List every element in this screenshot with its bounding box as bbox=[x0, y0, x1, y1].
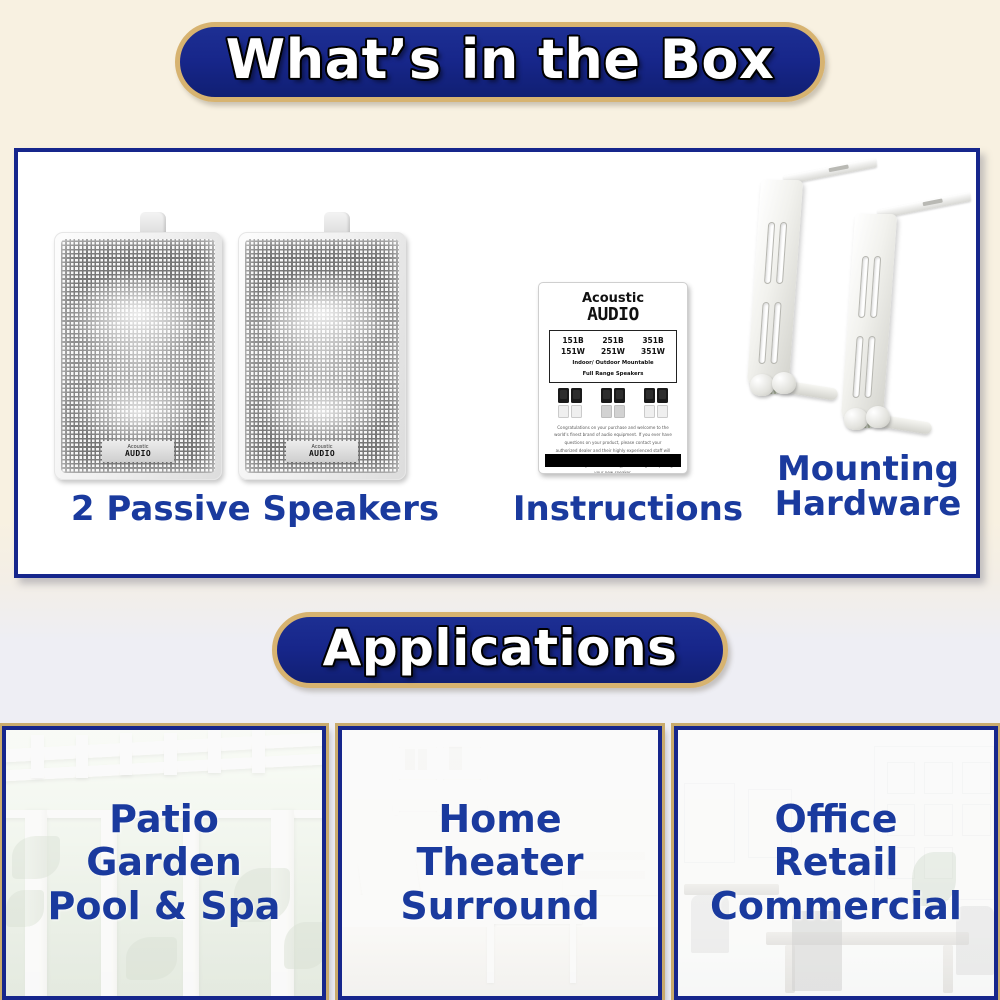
caption-instructions: Instructions bbox=[498, 492, 758, 527]
title-banner-label: What’s in the Box bbox=[226, 33, 775, 87]
sheet-footer-bar bbox=[545, 454, 681, 467]
thumbnail-pair bbox=[644, 388, 668, 418]
thumbnail-column bbox=[601, 388, 612, 418]
application-card-office-retail: Office Retail Commercial bbox=[674, 726, 998, 1000]
bracket-knob-group bbox=[750, 372, 824, 406]
speaker-grille-mesh bbox=[61, 239, 215, 473]
speaker-body: Acoustic AUDIO bbox=[54, 232, 222, 480]
speaker-brand-badge: Acoustic AUDIO bbox=[102, 441, 174, 462]
application-label-home-theater: Home Theater Surround bbox=[342, 730, 658, 996]
speaker-thumb-dark-icon bbox=[558, 388, 569, 403]
thumbnail-column bbox=[571, 388, 582, 418]
title-banner: What’s in the Box bbox=[175, 22, 826, 102]
speaker-thumb-light-icon bbox=[614, 405, 625, 418]
bracket-knob bbox=[844, 408, 868, 430]
bracket-plate bbox=[841, 214, 897, 420]
applications-banner-container: Applications bbox=[0, 604, 1000, 688]
speaker-thumb-dark-icon bbox=[571, 388, 582, 403]
speaker-thumb-dark-icon bbox=[614, 388, 625, 403]
sheet-product-thumbnails bbox=[549, 388, 677, 418]
instruction-sheet: Acoustic AUDIO 151B 251B 351B 151W 251W … bbox=[538, 282, 688, 474]
speakers-product-image: Acoustic AUDIO Acoustic AUDIO bbox=[54, 180, 454, 480]
caption-mounting-hardware: Mounting Hardware bbox=[758, 452, 978, 521]
speaker-body: Acoustic AUDIO bbox=[238, 232, 406, 480]
speaker-badge-brand-bottom: AUDIO bbox=[125, 450, 151, 458]
application-label-patio-garden: Patio Garden Pool & Spa bbox=[6, 730, 322, 996]
bracket-slot bbox=[864, 336, 875, 398]
bracket-knob-group bbox=[844, 406, 918, 440]
bracket-plate bbox=[747, 180, 803, 386]
thumbnail-column bbox=[558, 388, 569, 418]
sheet-model-table: 151B 251B 351B 151W 251W 351W Indoor/ Ou… bbox=[549, 330, 677, 383]
bracket-slot bbox=[852, 336, 863, 398]
application-card-home-theater: Home Theater Surround bbox=[338, 726, 662, 1000]
thumbnail-pair bbox=[558, 388, 582, 418]
applications-row: Patio Garden Pool & Spa Home Th bbox=[0, 726, 1000, 1000]
thumbnail-column bbox=[657, 388, 668, 418]
thumbnail-column bbox=[644, 388, 655, 418]
application-label-office-retail: Office Retail Commercial bbox=[678, 730, 994, 996]
application-card-patio-garden: Patio Garden Pool & Spa bbox=[2, 726, 326, 1000]
speaker-thumb-dark-icon bbox=[657, 388, 668, 403]
bracket-slot bbox=[776, 222, 787, 284]
instruction-sheet-image: Acoustic AUDIO 151B 251B 351B 151W 251W … bbox=[538, 282, 688, 474]
mounting-hardware-image bbox=[744, 162, 974, 447]
speaker-unit-right: Acoustic AUDIO bbox=[238, 212, 406, 480]
speaker-brand-badge: Acoustic AUDIO bbox=[286, 441, 358, 462]
bracket-knob bbox=[750, 374, 774, 396]
speaker-thumb-light-icon bbox=[657, 405, 668, 418]
speaker-thumb-light-icon bbox=[558, 405, 569, 418]
sheet-subtitle-line-2: Full Range Speakers bbox=[553, 371, 673, 379]
bracket-slot bbox=[858, 256, 869, 318]
model-number: 351W bbox=[641, 346, 665, 357]
sheet-model-row-1: 151B 251B 351B bbox=[553, 335, 673, 346]
box-items-row: Acoustic AUDIO Acoustic AUDIO bbox=[18, 152, 976, 574]
bracket-slot bbox=[758, 302, 769, 364]
bracket-slot bbox=[770, 302, 781, 364]
applications-banner-label: Applications bbox=[323, 623, 678, 673]
model-number: 351B bbox=[642, 335, 663, 346]
bracket-slot bbox=[870, 256, 881, 318]
thumbnail-pair bbox=[601, 388, 625, 418]
sheet-model-row-2: 151W 251W 351W bbox=[553, 346, 673, 357]
bracket-knob bbox=[772, 372, 796, 394]
sheet-brand-bottom: AUDIO bbox=[549, 306, 677, 325]
model-number: 251W bbox=[601, 346, 625, 357]
speaker-thumb-light-icon bbox=[571, 405, 582, 418]
speaker-thumb-dark-icon bbox=[601, 388, 612, 403]
bracket-slot bbox=[764, 222, 775, 284]
bracket-knob bbox=[866, 406, 890, 428]
model-number: 151B bbox=[562, 335, 583, 346]
speaker-thumb-light-icon bbox=[644, 405, 655, 418]
thumbnail-column bbox=[614, 388, 625, 418]
speaker-badge-brand-bottom: AUDIO bbox=[309, 450, 335, 458]
title-banner-container: What’s in the Box bbox=[0, 0, 1000, 102]
model-number: 151W bbox=[561, 346, 585, 357]
model-number: 251B bbox=[602, 335, 623, 346]
speaker-grille-mesh bbox=[245, 239, 399, 473]
speaker-thumb-dark-icon bbox=[644, 388, 655, 403]
mounting-bracket-right bbox=[848, 210, 892, 426]
caption-passive-speakers: 2 Passive Speakers bbox=[40, 492, 470, 527]
speaker-thumb-light-icon bbox=[601, 405, 612, 418]
sheet-subtitle-line-1: Indoor/ Outdoor Mountable bbox=[553, 360, 673, 368]
speaker-unit-left: Acoustic AUDIO bbox=[54, 212, 222, 480]
mounting-bracket-left bbox=[754, 176, 798, 392]
applications-banner: Applications bbox=[272, 612, 729, 688]
box-contents-panel: Acoustic AUDIO Acoustic AUDIO bbox=[14, 148, 980, 578]
